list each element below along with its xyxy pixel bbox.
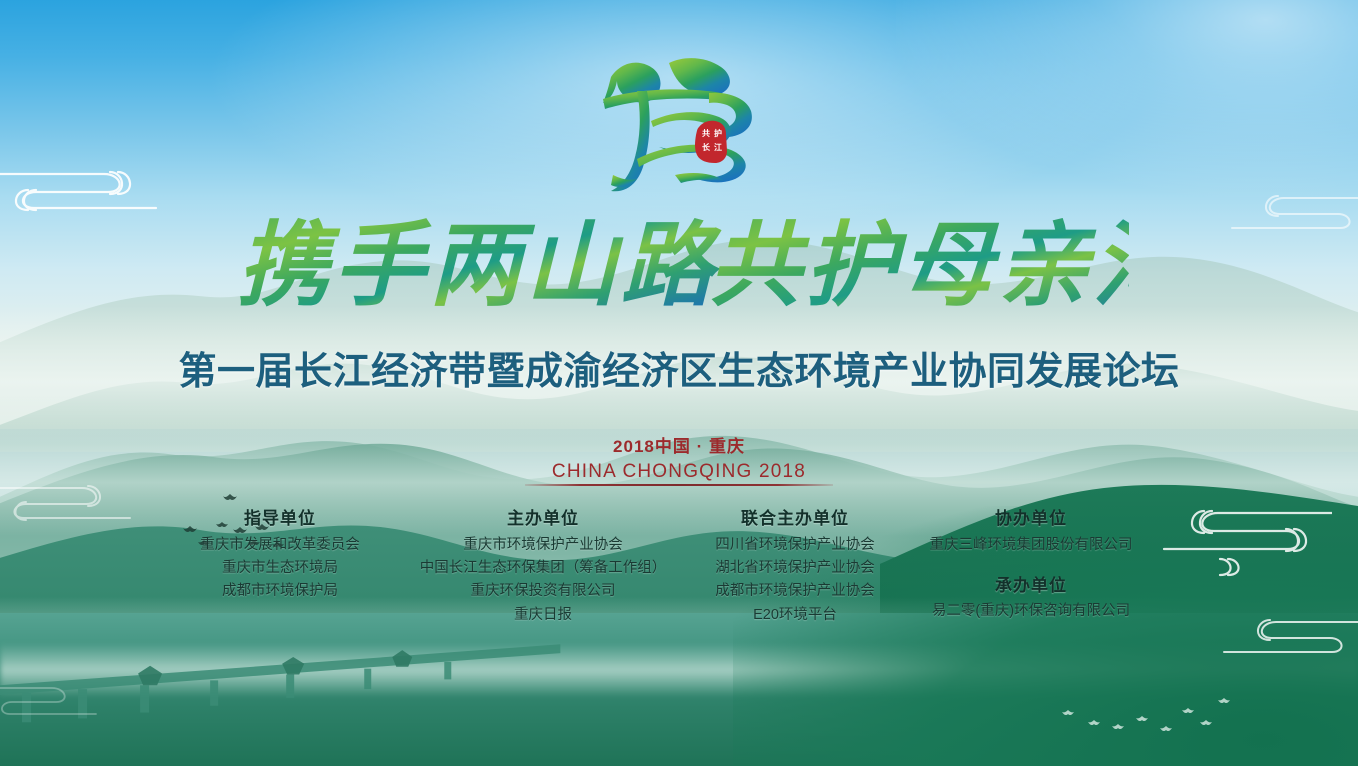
org-line: 重庆环保投资有限公司 — [418, 580, 668, 603]
org-line: 重庆三峰环境集团股份有限公司 — [905, 534, 1157, 557]
svg-text:江: 江 — [714, 142, 722, 152]
org-line: 重庆市环境保护产业协会 — [418, 534, 668, 557]
brush-calligraphy-logo-icon: 共 护 长 江 — [589, 47, 769, 195]
org-line: 重庆市发展和改革委员会 — [180, 534, 380, 557]
org-line: 成都市环境保护产业协会 — [694, 580, 896, 603]
main-headline: 携手两山路 共护母亲河 — [0, 205, 1358, 325]
org-heading: 指导单位 — [180, 506, 380, 532]
org-line: 成都市环境保护局 — [180, 580, 380, 603]
page-title: 第一届长江经济带暨成渝经济区生态环境产业协同发展论坛 — [0, 340, 1358, 395]
headline-left-text: 携手两山路 — [237, 211, 722, 319]
organizations-row: 指导单位 重庆市发展和改革委员会 重庆市生态环境局 成都市环境保护局 主办单位 … — [0, 506, 1358, 646]
org-heading: 协办单位 — [905, 506, 1157, 532]
org-line: 重庆日报 — [418, 604, 668, 627]
logo-container: 共 护 长 江 — [0, 46, 1358, 196]
org-line: E20环境平台 — [694, 604, 896, 627]
red-seal-stamp-icon: 共 护 长 江 — [693, 119, 729, 165]
svg-text:共: 共 — [702, 128, 710, 138]
spacer — [905, 557, 1157, 573]
date-english: CHINA CHONGQING 2018 — [0, 459, 1358, 485]
org-line: 中国长江生态环保集团（筹备工作组） — [418, 557, 668, 580]
divider-rule — [525, 484, 833, 486]
svg-text:长: 长 — [702, 142, 711, 152]
org-line: 四川省环境保护产业协会 — [694, 534, 896, 557]
org-line: 湖北省环境保护产业协会 — [694, 557, 896, 580]
org-line: 重庆市生态环境局 — [180, 557, 380, 580]
org-column-host: 主办单位 重庆市环境保护产业协会 中国长江生态环保集团（筹备工作组） 重庆环保投… — [418, 506, 668, 627]
org-heading: 承办单位 — [905, 573, 1157, 599]
org-column-co-host: 联合主办单位 四川省环境保护产业协会 湖北省环境保护产业协会 成都市环境保护产业… — [694, 506, 896, 627]
org-line: 易二零(重庆)环保咨询有限公司 — [905, 600, 1157, 623]
org-column-supporter-organizer: 协办单位 重庆三峰环境集团股份有限公司 承办单位 易二零(重庆)环保咨询有限公司 — [905, 506, 1157, 624]
org-column-guidance: 指导单位 重庆市发展和改革委员会 重庆市生态环境局 成都市环境保护局 — [180, 506, 380, 604]
org-heading: 主办单位 — [418, 506, 668, 532]
svg-text:护: 护 — [714, 128, 722, 138]
org-heading: 联合主办单位 — [694, 506, 896, 532]
event-date-location: 2018中国 · 重庆 CHINA CHONGQING 2018 — [0, 436, 1358, 485]
headline-right-text: 共护母亲河 — [709, 211, 1129, 319]
date-chinese: 2018中国 · 重庆 — [0, 436, 1358, 459]
forum-banner: 共 护 长 江 — [0, 0, 1358, 766]
